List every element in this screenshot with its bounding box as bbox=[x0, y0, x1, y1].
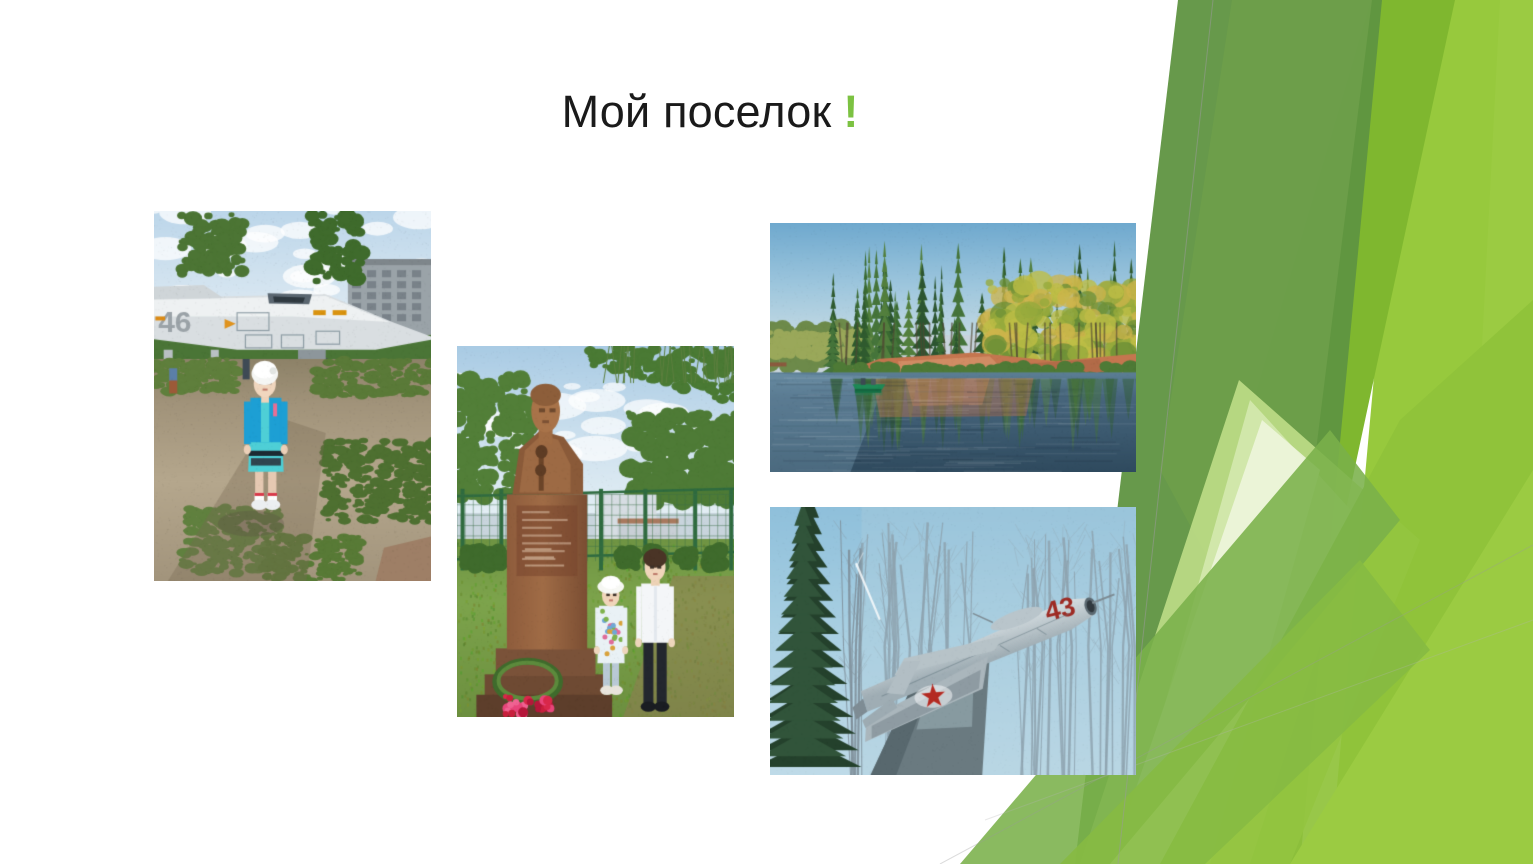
slide-title[interactable]: Мой поселок! bbox=[300, 86, 1120, 138]
deco-shape-paler-green bbox=[1120, 400, 1360, 864]
deco-shape-palest-green bbox=[1110, 420, 1320, 864]
slide-title-accent: ! bbox=[843, 86, 858, 137]
photo-monument-bust[interactable]: Дети у бронзового бюста на гранитном пос… bbox=[457, 346, 734, 717]
deco-shape-mid-green bbox=[1160, 0, 1372, 700]
deco-shape-lower-right-green bbox=[1160, 300, 1533, 864]
slide-title-text: Мой поселок bbox=[562, 86, 832, 137]
photo-monument-bust-canvas bbox=[457, 346, 734, 717]
photo-jet-monument[interactable]: Самолёт-памятник МиГ с красной звездой и… bbox=[770, 507, 1136, 775]
photo-aircraft-child[interactable]: Ребёнок у самолёта-памятника Су-24 с бор… bbox=[154, 211, 431, 581]
deco-shape-lower-right-bright bbox=[1290, 470, 1533, 864]
photo-aircraft-child-canvas bbox=[154, 211, 431, 581]
photo-jet-monument-canvas bbox=[770, 507, 1136, 775]
photo-river-forest[interactable]: Река с песчаным берегом, хвойный лес и з… bbox=[770, 223, 1136, 472]
presentation-slide: Мой поселок! Ребёнок у самолёта-памятник… bbox=[0, 0, 1533, 864]
deco-shape-bright-green bbox=[1118, 0, 1455, 864]
deco-shape-light-green-right-2 bbox=[1455, 0, 1533, 864]
deco-shape-light-green-right bbox=[1330, 0, 1533, 864]
photo-river-forest-canvas bbox=[770, 223, 1136, 472]
